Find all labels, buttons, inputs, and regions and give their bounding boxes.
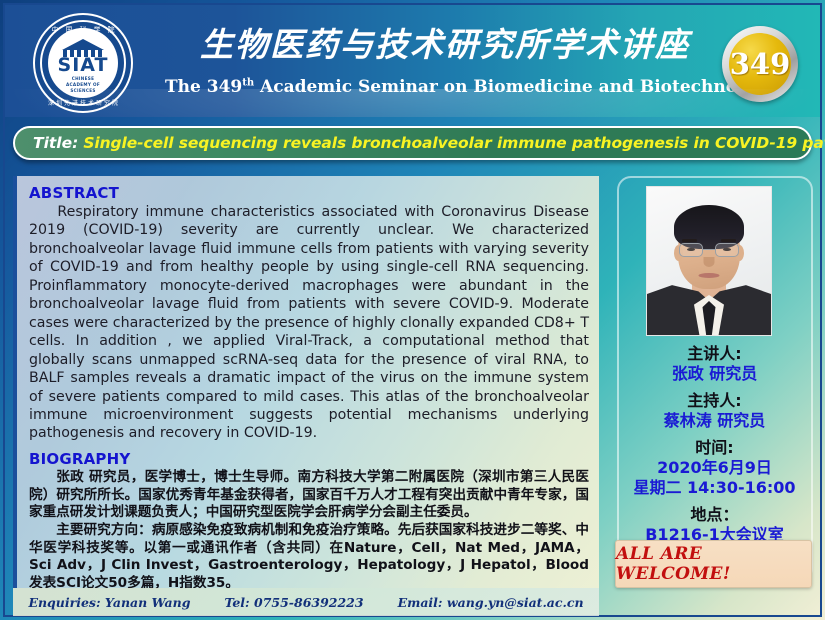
biography-paragraph-1: 张政 研究员，医学博士，博士生导师。南方科技大学第二附属医院（深圳市第三人民医院… bbox=[29, 469, 589, 522]
content-panel: ABSTRACT Respiratory immune characterist… bbox=[13, 176, 599, 588]
glasses-bridge bbox=[703, 249, 715, 250]
badge-core: 349 bbox=[729, 33, 791, 95]
logo-chinese-bottom: 深圳先进技术研究院 bbox=[33, 98, 133, 107]
footer-email: Email: wang.yn@siat.ac.cn bbox=[398, 595, 584, 610]
host-label: 主持人: bbox=[612, 391, 817, 411]
abstract-body: Respiratory immune characteristics assoc… bbox=[29, 203, 589, 443]
photo-mouth bbox=[699, 273, 720, 278]
time-clock: 星期二 14:30-16:00 bbox=[612, 478, 817, 499]
logo-roof-icon bbox=[62, 39, 104, 50]
logo-chinese-top: 中国科学院 bbox=[33, 25, 133, 35]
photo-nose bbox=[704, 257, 715, 267]
speaker-name: 张政 研究员 bbox=[612, 364, 817, 385]
header-title-en-ordinal: th bbox=[242, 77, 254, 88]
glasses-lens-right bbox=[715, 243, 739, 257]
footer-enquiries: Enquiries: Yanan Wang bbox=[28, 595, 190, 610]
welcome-text: ALL ARE WELCOME! bbox=[616, 544, 811, 584]
header-title-english: The 349th Academic Seminar on Biomedicin… bbox=[165, 77, 725, 97]
header-title-en-prefix: The 349 bbox=[165, 77, 242, 97]
title-label: Title: bbox=[33, 134, 78, 152]
poster-header: 中国科学院 SIAT CHINESEACADEMY OFSCIENCES 深圳先… bbox=[5, 5, 820, 117]
header-title-chinese: 生物医药与技术研究所学术讲座 bbox=[200, 27, 690, 63]
logo-english-name: CHINESEACADEMY OFSCIENCES bbox=[33, 76, 133, 94]
siat-logo: 中国科学院 SIAT CHINESEACADEMY OFSCIENCES 深圳先… bbox=[33, 13, 133, 113]
seminar-poster: 中国科学院 SIAT CHINESEACADEMY OFSCIENCES 深圳先… bbox=[0, 0, 825, 620]
speaker-label: 主讲人: bbox=[612, 344, 817, 364]
glasses-lens-left bbox=[679, 243, 703, 257]
photo-glasses bbox=[679, 243, 739, 258]
abstract-heading: ABSTRACT bbox=[29, 184, 589, 202]
seminar-title-bar: Title: Single-cell sequencing reveals br… bbox=[13, 126, 812, 160]
issue-number-badge: 349 bbox=[722, 26, 798, 102]
host-name: 蔡林涛 研究员 bbox=[612, 411, 817, 432]
footer-tel: Tel: 0755-86392223 bbox=[224, 595, 363, 610]
speaker-photo bbox=[646, 186, 772, 336]
time-date: 2020年6月9日 bbox=[612, 458, 817, 479]
badge-number: 349 bbox=[730, 50, 791, 79]
photo-eyebrow-left bbox=[682, 239, 697, 242]
contact-footer: Enquiries: Yanan Wang Tel: 0755-86392223… bbox=[13, 588, 599, 616]
title-text: Single-cell sequencing reveals bronchoal… bbox=[83, 134, 825, 152]
section-spacer bbox=[29, 443, 589, 450]
logo-acronym: SIAT bbox=[33, 56, 133, 75]
photo-eyebrow-right bbox=[721, 239, 736, 242]
speaker-sidebar: 主讲人: 张政 研究员 主持人: 蔡林涛 研究员 时间: 2020年6月9日 星… bbox=[612, 176, 817, 588]
place-label: 地点： bbox=[612, 505, 817, 525]
welcome-banner: ALL ARE WELCOME! bbox=[615, 540, 812, 588]
biography-paragraph-2: 主要研究方向：病原感染免疫致病机制和免疫治疗策略。先后获国家科技进步二等奖、中华… bbox=[29, 522, 589, 593]
header-title-en-rest: Academic Seminar on Biomedicine and Biot… bbox=[254, 77, 777, 97]
biography-heading: BIOGRAPHY bbox=[29, 450, 589, 468]
time-label: 时间: bbox=[612, 438, 817, 458]
